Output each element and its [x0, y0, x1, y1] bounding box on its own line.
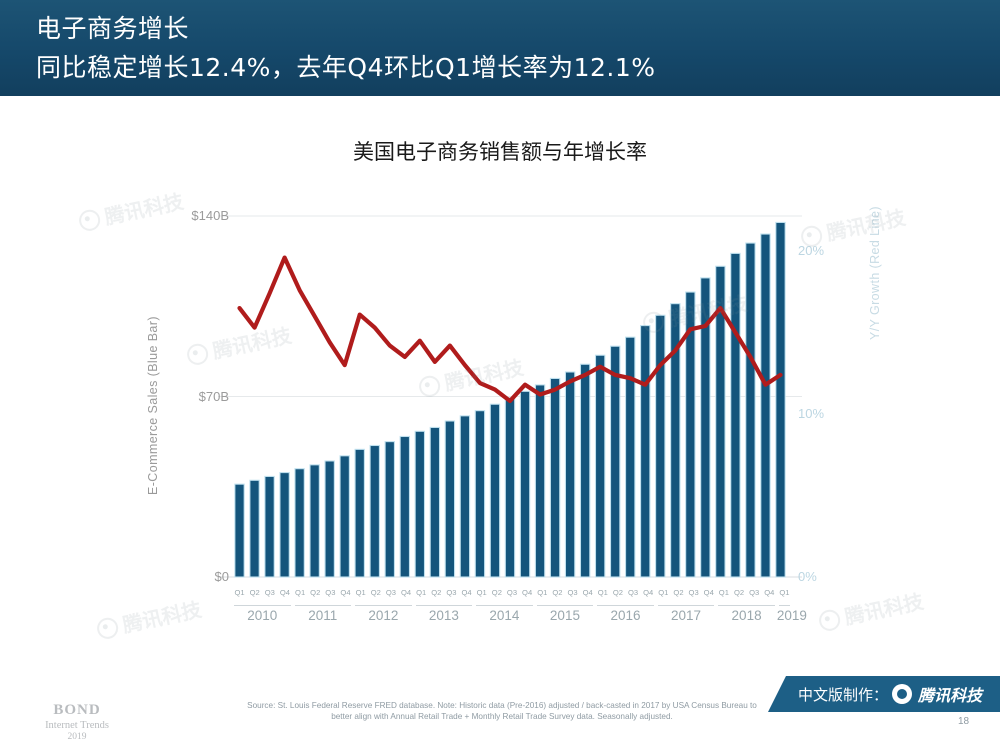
quarter-label: Q2	[552, 588, 562, 597]
quarter-label: Q1	[719, 588, 729, 597]
quarter-label: Q3	[446, 588, 456, 597]
chart-svg	[150, 195, 870, 595]
y-tick-right: 20%	[798, 243, 824, 258]
year-rule	[718, 605, 775, 606]
quarter-label: Q3	[507, 588, 517, 597]
year-group: 2015	[535, 605, 596, 631]
tencent-circle-icon	[892, 684, 912, 704]
quarter-label: Q2	[673, 588, 683, 597]
quarter-label: Q1	[234, 588, 244, 597]
quarter-label: Q1	[295, 588, 305, 597]
quarter-label: Q4	[462, 588, 472, 597]
year-rule	[537, 605, 594, 606]
watermark-ring-icon	[77, 208, 102, 233]
year-rule	[597, 605, 654, 606]
quarter-label-row: Q1Q2Q3Q4Q1Q2Q3Q4Q1Q2Q3Q4Q1Q2Q3Q4Q1Q2Q3Q4…	[232, 588, 792, 603]
quarter-label: Q4	[280, 588, 290, 597]
bar	[265, 476, 274, 577]
year-group: 2019	[777, 605, 792, 631]
bar	[596, 355, 605, 577]
bond-logo-name: BOND	[22, 702, 132, 719]
quarter-label: Q3	[325, 588, 335, 597]
page-number: 18	[958, 716, 969, 727]
year-group: 2012	[353, 605, 414, 631]
year-group: 2017	[656, 605, 717, 631]
bar	[580, 364, 589, 577]
bar	[626, 337, 635, 577]
year-group: 2010	[232, 605, 293, 631]
bar	[641, 326, 650, 577]
year-group: 2013	[414, 605, 475, 631]
bar	[235, 484, 244, 577]
year-rule	[476, 605, 533, 606]
bar	[490, 404, 499, 577]
quarter-label: Q1	[779, 588, 789, 597]
year-group: 2016	[595, 605, 656, 631]
quarter-label: Q1	[658, 588, 668, 597]
y-tick-right: 0%	[798, 569, 817, 584]
quarter-label: Q2	[492, 588, 502, 597]
bar	[656, 315, 665, 577]
bar	[460, 416, 469, 577]
tencent-credit-banner: 中文版制作： 腾讯科技	[768, 676, 1000, 712]
y-tick-left: $70B	[199, 389, 229, 404]
bar	[535, 385, 544, 577]
quarter-label: Q2	[431, 588, 441, 597]
bar	[325, 461, 334, 577]
chart-plot-area: E-Commerce Sales (Blue Bar) Y/Y Growth (…	[150, 195, 870, 595]
quarter-label: Q1	[537, 588, 547, 597]
tencent-brand-name: 腾讯科技	[918, 682, 982, 706]
bar	[250, 480, 259, 577]
bar	[415, 431, 424, 577]
watermark-ring-icon	[817, 608, 842, 633]
bar	[746, 243, 755, 577]
bar	[370, 445, 379, 577]
tencent-credit-prefix: 中文版制作：	[798, 684, 888, 705]
y-tick-right: 10%	[798, 406, 824, 421]
quarter-label: Q1	[356, 588, 366, 597]
year-rule	[295, 605, 352, 606]
year-label: 2014	[474, 608, 535, 623]
tencent-watermark: 腾讯科技	[94, 593, 204, 643]
bar	[550, 378, 559, 577]
bar	[385, 442, 394, 577]
quarter-label: Q3	[386, 588, 396, 597]
bar	[430, 427, 439, 577]
year-group: 2018	[716, 605, 777, 631]
year-label: 2016	[595, 608, 656, 623]
quarter-label: Q4	[764, 588, 774, 597]
quarter-label: Q4	[401, 588, 411, 597]
year-group: 2011	[293, 605, 354, 631]
quarter-label: Q4	[522, 588, 532, 597]
year-label: 2011	[293, 608, 354, 623]
bar	[565, 372, 574, 577]
year-rule	[416, 605, 473, 606]
quarter-label: Q3	[749, 588, 759, 597]
page-title: 电子商务增长	[36, 9, 189, 45]
quarter-label: Q2	[310, 588, 320, 597]
quarter-label: Q1	[477, 588, 487, 597]
bar	[280, 473, 289, 577]
source-note: Source: St. Louis Federal Reserve FRED d…	[242, 700, 762, 722]
year-label: 2015	[535, 608, 596, 623]
year-label: 2018	[716, 608, 777, 623]
bond-logo-subtitle: Internet Trends	[22, 720, 132, 731]
y-tick-left: $0	[215, 569, 229, 584]
year-rule	[234, 605, 291, 606]
year-label-row: 2010201120122013201420152016201720182019	[232, 605, 792, 633]
page-subtitle: 同比稳定增长12.4%，去年Q4环比Q1增长率为12.1%	[36, 48, 656, 84]
bar	[731, 253, 740, 577]
bar	[355, 449, 364, 577]
quarter-label: Q2	[371, 588, 381, 597]
y-tick-left: $140B	[191, 208, 229, 223]
bar	[475, 411, 484, 577]
year-label: 2017	[656, 608, 717, 623]
quarter-label: Q1	[598, 588, 608, 597]
bar	[445, 421, 454, 577]
quarter-label: Q2	[613, 588, 623, 597]
year-group: 2014	[474, 605, 535, 631]
bar	[310, 465, 319, 577]
bond-logo-year: 2019	[22, 732, 132, 742]
bar	[611, 346, 620, 577]
quarter-label: Q4	[340, 588, 350, 597]
year-label: 2012	[353, 608, 414, 623]
header-band: 电子商务增长 同比稳定增长12.4%，去年Q4环比Q1增长率为12.1%	[0, 0, 1000, 96]
chart-title: 美国电子商务销售额与年增长率	[0, 136, 1000, 166]
bond-logo: BOND Internet Trends 2019	[22, 702, 132, 742]
bar	[761, 234, 770, 577]
x-axis: Q1Q2Q3Q4Q1Q2Q3Q4Q1Q2Q3Q4Q1Q2Q3Q4Q1Q2Q3Q4…	[232, 588, 792, 634]
watermark-ring-icon	[95, 616, 120, 641]
quarter-label: Q2	[250, 588, 260, 597]
quarter-label: Q3	[689, 588, 699, 597]
growth-line	[240, 258, 781, 401]
quarter-label: Q4	[643, 588, 653, 597]
y-axis-right-label: Y/Y Growth (Red Line)	[868, 206, 882, 340]
bar	[776, 222, 785, 577]
year-label: 2010	[232, 608, 293, 623]
bar	[400, 436, 409, 577]
quarter-label: Q4	[704, 588, 714, 597]
bar	[520, 391, 529, 577]
quarter-label: Q3	[265, 588, 275, 597]
quarter-label: Q3	[567, 588, 577, 597]
quarter-label: Q3	[628, 588, 638, 597]
year-rule	[658, 605, 715, 606]
year-rule	[779, 605, 790, 606]
quarter-label: Q2	[734, 588, 744, 597]
bar	[505, 398, 514, 577]
bar	[295, 469, 304, 577]
year-rule	[355, 605, 412, 606]
year-label: 2019	[777, 608, 792, 623]
quarter-label: Q4	[583, 588, 593, 597]
quarter-label: Q1	[416, 588, 426, 597]
year-label: 2013	[414, 608, 475, 623]
bar	[340, 456, 349, 577]
